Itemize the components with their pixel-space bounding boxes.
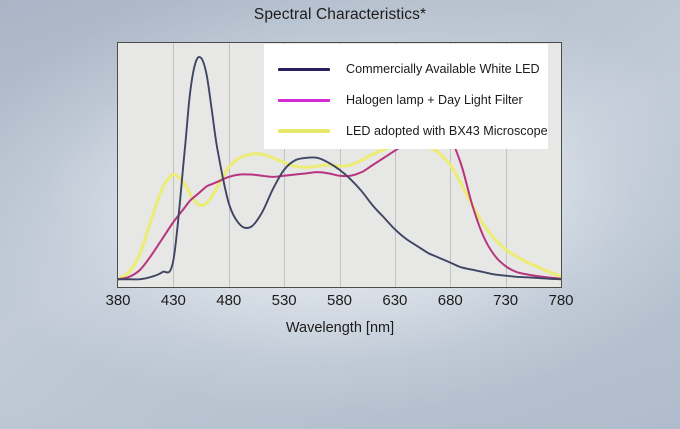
legend-item: Commercially Available White LED	[264, 56, 540, 82]
x-tick-label: 680	[438, 292, 463, 309]
chart-container: Spectral Characteristics* Commercially A…	[0, 0, 680, 429]
x-tick-label: 730	[493, 292, 518, 309]
x-tick-label: 380	[105, 292, 130, 309]
plot-area: Commercially Available White LEDHalogen …	[117, 42, 562, 288]
legend-swatch-icon	[278, 99, 330, 102]
legend: Commercially Available White LEDHalogen …	[264, 44, 548, 149]
x-axis-label: Wavelength [nm]	[0, 320, 680, 336]
legend-item: LED adopted with BX43 Microscope	[264, 118, 548, 144]
page-title: Spectral Characteristics*	[0, 6, 680, 24]
x-tick-label: 780	[548, 292, 573, 309]
x-tick-label: 480	[216, 292, 241, 309]
legend-swatch-icon	[278, 129, 330, 133]
x-tick-label: 580	[327, 292, 352, 309]
legend-item-label: Commercially Available White LED	[346, 62, 540, 76]
x-axis-tick-labels: 380430480530580630680730780	[117, 292, 562, 314]
curve-series-2	[118, 145, 561, 280]
legend-swatch-icon	[278, 68, 330, 71]
legend-item-label: LED adopted with BX43 Microscope	[346, 124, 548, 138]
legend-item: Halogen lamp + Day Light Filter	[264, 87, 523, 113]
x-tick-label: 630	[382, 292, 407, 309]
legend-item-label: Halogen lamp + Day Light Filter	[346, 93, 523, 107]
x-tick-label: 530	[272, 292, 297, 309]
x-tick-label: 430	[161, 292, 186, 309]
